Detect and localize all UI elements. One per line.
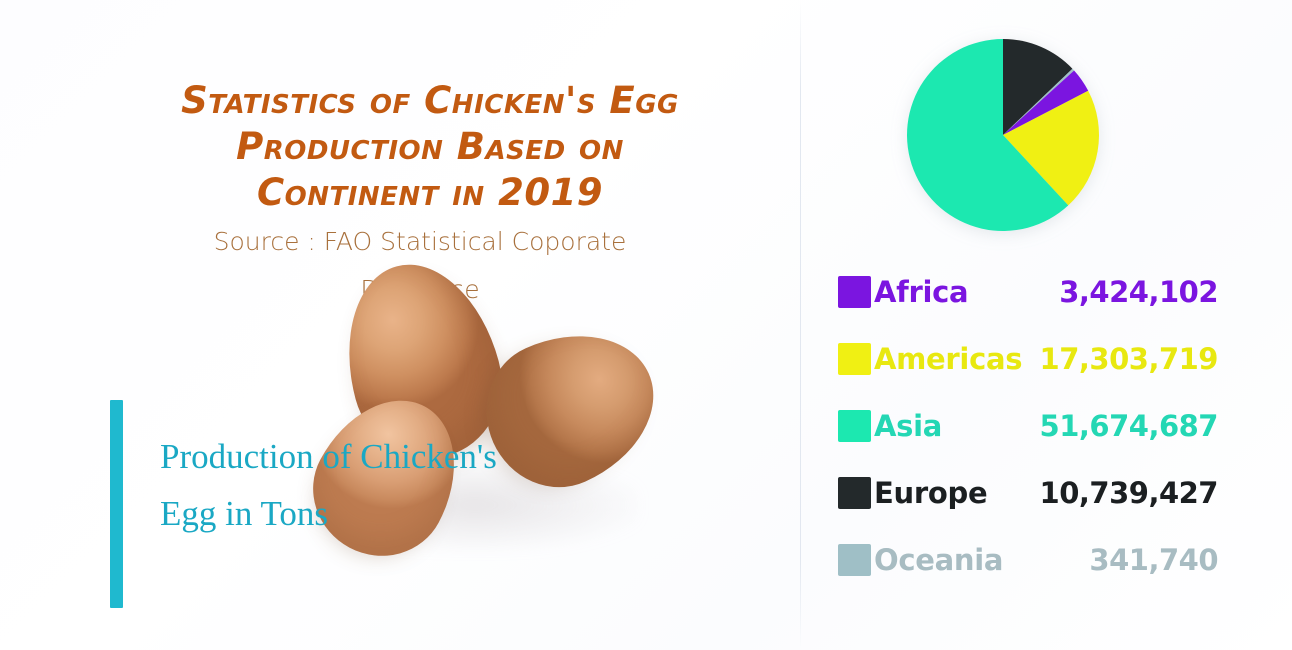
pie-chart-svg [906,38,1100,232]
legend-value-africa: 3,424,102 [1059,275,1218,309]
legend-value-americas: 17,303,719 [1040,342,1218,376]
caption-accent-bar [110,400,123,608]
legend-row-africa[interactable]: Africa 3,424,102 [838,258,1218,325]
pie-chart [906,38,1100,232]
legend-label-europe: Europe [874,476,987,510]
legend-value-europe: 10,739,427 [1040,476,1218,510]
legend-swatch-americas [838,343,871,375]
legend-swatch-europe [838,477,871,509]
legend-label-americas: Americas [874,342,1022,376]
legend-value-asia: 51,674,687 [1040,409,1218,443]
legend-label-africa: Africa [874,275,968,309]
legend-label-asia: Asia [874,409,942,443]
legend-value-oceania: 341,740 [1089,543,1218,577]
legend-label-oceania: Oceania [874,543,1003,577]
legend-swatch-oceania [838,544,871,576]
right-panel: Africa 3,424,102 Americas 17,303,719 Asi… [800,0,1292,650]
legend-row-americas[interactable]: Americas 17,303,719 [838,325,1218,392]
legend-row-europe[interactable]: Europe 10,739,427 [838,459,1218,526]
caption-text: Production of Chicken's Egg in Tons [160,428,520,542]
legend-swatch-asia [838,410,871,442]
legend-row-asia[interactable]: Asia 51,674,687 [838,392,1218,459]
legend-row-oceania[interactable]: Oceania 341,740 [838,526,1218,593]
left-panel: Statistics of Chicken's Egg Production B… [0,0,800,650]
legend-swatch-africa [838,276,871,308]
infographic-canvas: Statistics of Chicken's Egg Production B… [0,0,1292,650]
page-title: Statistics of Chicken's Egg Production B… [150,78,710,216]
legend: Africa 3,424,102 Americas 17,303,719 Asi… [838,258,1218,593]
